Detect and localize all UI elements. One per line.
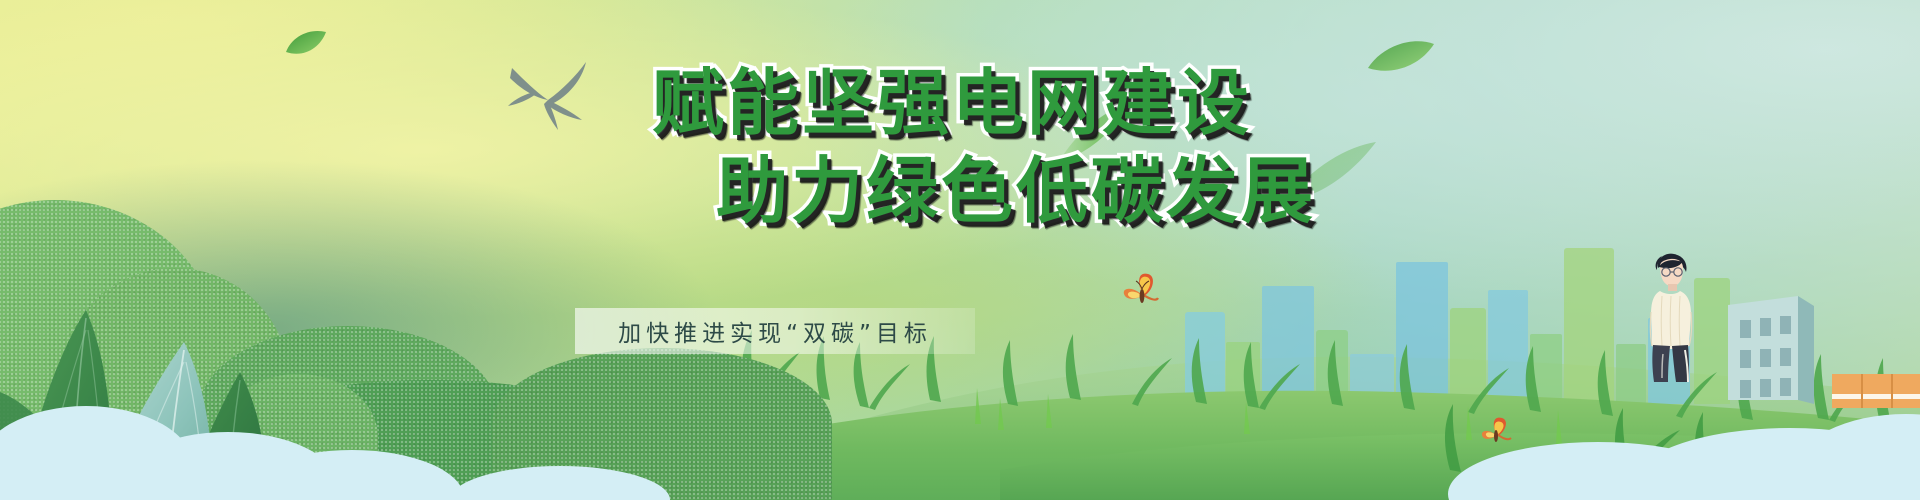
- butterfly-lower-icon: [1478, 414, 1518, 450]
- banner-root: 赋能坚强电网建设 助力绿色低碳发展 加快推进实现“双碳”目标: [0, 0, 1920, 500]
- subtitle-text: 加快推进实现“双碳”目标: [575, 308, 975, 354]
- floating-leaves: [0, 0, 1920, 500]
- butterfly-upper-icon: [1120, 270, 1166, 312]
